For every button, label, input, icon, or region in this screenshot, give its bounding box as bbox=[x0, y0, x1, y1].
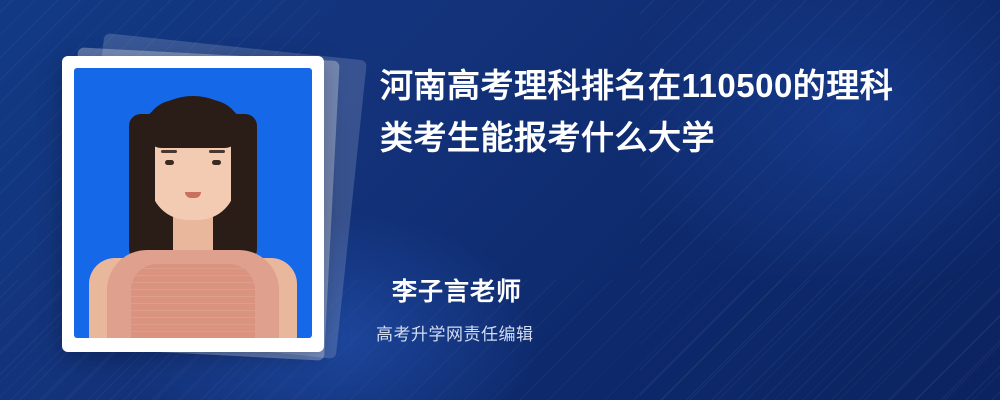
author-role: 高考升学网责任编辑 bbox=[376, 320, 534, 345]
portrait-hair-left bbox=[129, 114, 155, 264]
portrait-dress bbox=[131, 264, 255, 338]
photo-card-front bbox=[62, 56, 324, 352]
portrait-eye-left bbox=[165, 160, 174, 165]
photo-card-stack bbox=[52, 38, 362, 368]
headline-block: 河南高考理科排名在110500的理科 类考生能报考什么大学 bbox=[380, 60, 950, 164]
article-headline: 河南高考理科排名在110500的理科 类考生能报考什么大学 bbox=[380, 60, 950, 164]
author-name: 李子言老师 bbox=[392, 272, 522, 308]
portrait-eyebrow-left bbox=[161, 150, 177, 153]
portrait-hair-right bbox=[231, 114, 257, 264]
author-portrait-photo bbox=[74, 68, 312, 338]
article-cover-banner: 河南高考理科排名在110500的理科 类考生能报考什么大学 李子言老师 高考升学… bbox=[0, 0, 1000, 400]
portrait-fringe bbox=[145, 100, 241, 148]
portrait-eye-right bbox=[212, 160, 221, 165]
portrait-eyebrow-right bbox=[209, 150, 225, 153]
